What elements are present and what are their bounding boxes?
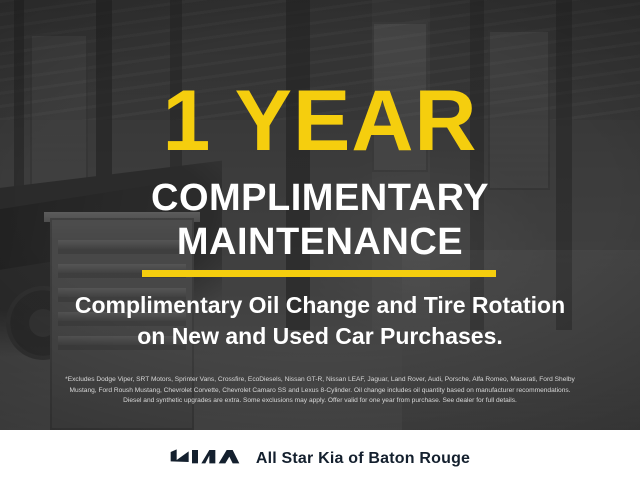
yellow-divider xyxy=(142,270,496,277)
disclaimer-line-1: *Excludes Dodge Viper, SRT Motors, Sprin… xyxy=(14,375,626,386)
dealer-name: All Star Kia of Baton Rouge xyxy=(256,450,470,468)
disclaimer-line-2: Mustang, Ford Roush Mustang, Chevrolet C… xyxy=(14,386,626,397)
headline-maintenance: MAINTENANCE xyxy=(0,222,640,262)
offer-line-2: on New and Used Car Purchases. xyxy=(0,321,640,352)
promotional-banner: 1 YEAR COMPLIMENTARY MAINTENANCE Complim… xyxy=(0,0,640,488)
headline-complimentary: COMPLIMENTARY xyxy=(0,178,640,218)
offer-line-1: Complimentary Oil Change and Tire Rotati… xyxy=(0,290,640,321)
disclaimer-text: *Excludes Dodge Viper, SRT Motors, Sprin… xyxy=(14,375,626,407)
offer-description: Complimentary Oil Change and Tire Rotati… xyxy=(0,290,640,352)
disclaimer-line-3: Diesel and synthetic upgrades are extra.… xyxy=(14,396,626,407)
headline-year: 1 YEAR xyxy=(0,78,640,164)
kia-logo xyxy=(170,446,240,473)
banner-content: 1 YEAR COMPLIMENTARY MAINTENANCE Complim… xyxy=(0,0,640,488)
footer-brand-group: All Star Kia of Baton Rouge xyxy=(170,446,470,473)
footer-bar: All Star Kia of Baton Rouge xyxy=(0,430,640,488)
